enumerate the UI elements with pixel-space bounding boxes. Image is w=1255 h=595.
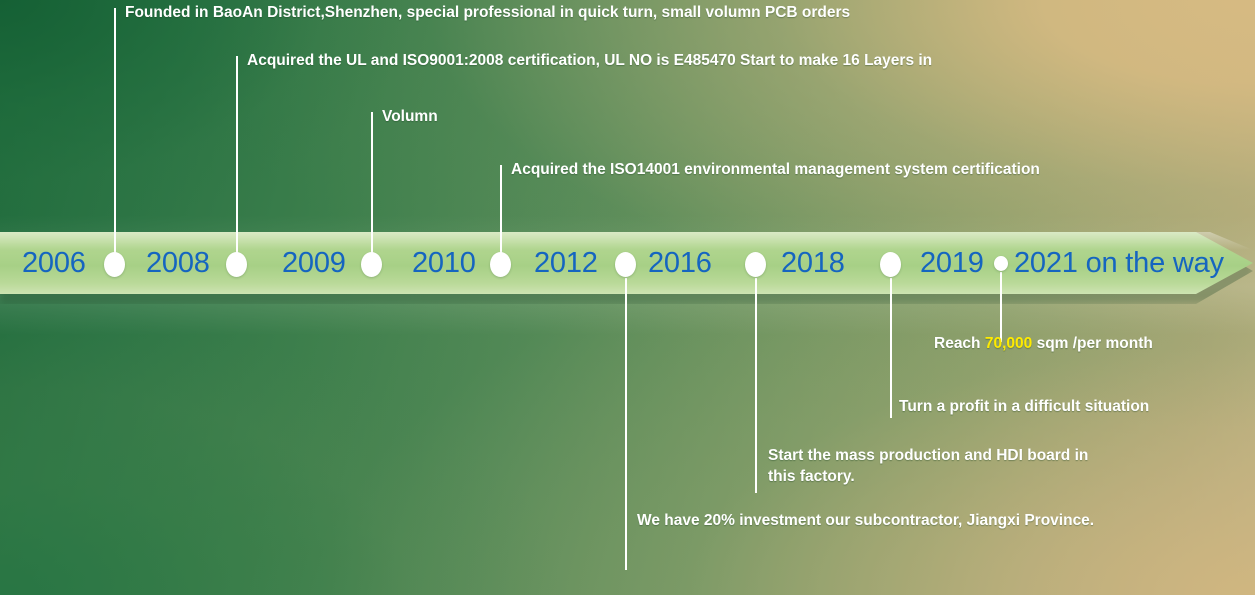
timeline-year-2009[interactable]: 2009: [282, 246, 346, 280]
timeline-year-2008[interactable]: 2008: [146, 246, 210, 280]
callout-turn-profit: Turn a profit in a difficult situation: [899, 396, 1149, 417]
timeline-year-2019[interactable]: 2019: [920, 246, 984, 280]
connector-line-2018: [890, 278, 892, 418]
connector-line-2006: [114, 8, 116, 253]
connector-line-2010: [500, 165, 502, 253]
callout-mass-production-line2: this factory.: [768, 466, 1088, 487]
callout-mass-production-line1: Start the mass production and HDI board …: [768, 445, 1088, 466]
connector-line-2009: [371, 112, 373, 253]
timeline-year-2021[interactable]: 2021 on the way: [1014, 246, 1224, 280]
timeline-dot-2016[interactable]: [745, 252, 766, 277]
timeline-dot-2008[interactable]: [226, 252, 247, 277]
callout-iso14001: Acquired the ISO14001 environmental mana…: [511, 159, 1040, 180]
connector-line-2008: [236, 56, 238, 253]
callout-reach-prefix: Reach: [934, 335, 985, 352]
timeline-year-2012[interactable]: 2012: [534, 246, 598, 280]
timeline-year-2010[interactable]: 2010: [412, 246, 476, 280]
timeline-dot-2009[interactable]: [361, 252, 382, 277]
callout-founded: Founded in BaoAn District,Shenzhen, spec…: [125, 2, 850, 23]
callout-reach-capacity: Reach 70,000 sqm /per month: [934, 333, 1153, 354]
timeline-dot-2010[interactable]: [490, 252, 511, 277]
timeline-dot-2012[interactable]: [615, 252, 636, 277]
timeline-dot-2018[interactable]: [880, 252, 901, 277]
callout-reach-value: 70,000: [985, 335, 1032, 352]
timeline-year-2016[interactable]: 2016: [648, 246, 712, 280]
connector-line-2016: [755, 278, 757, 493]
callout-mass-production: Start the mass production and HDI board …: [768, 445, 1088, 487]
timeline-dot-2006[interactable]: [104, 252, 125, 277]
connector-line-2019: [1000, 272, 1002, 342]
connector-line-2012: [625, 278, 627, 570]
timeline-year-2018[interactable]: 2018: [781, 246, 845, 280]
callout-ul-iso9001: Acquired the UL and ISO9001:2008 certifi…: [247, 50, 932, 71]
callout-reach-suffix: sqm /per month: [1032, 335, 1153, 352]
callout-subcontractor: We have 20% investment our subcontractor…: [637, 510, 1094, 531]
timeline-year-2006[interactable]: 2006: [22, 246, 86, 280]
timeline-dot-2019[interactable]: [994, 256, 1008, 271]
callout-volumn: Volumn: [382, 106, 438, 127]
